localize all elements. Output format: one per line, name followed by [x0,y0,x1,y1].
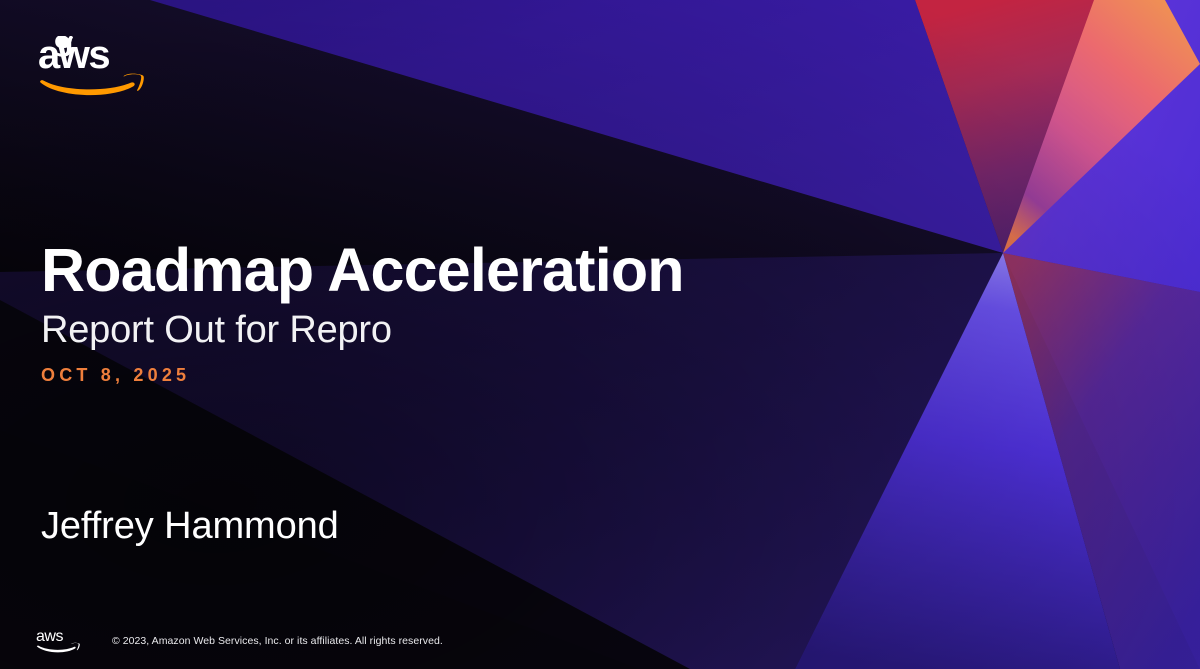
slide-footer: aws © 2023, Amazon Web Services, Inc. or… [36,627,443,655]
presentation-date: OCT 8, 2025 [41,365,801,386]
title-text-block: Roadmap Acceleration Report Out for Repr… [41,238,801,386]
page-subtitle: Report Out for Repro [41,308,801,353]
aws-wordmark-text: aws [38,36,109,77]
title-slide: aws Roadmap Acceleration Report Out for … [0,0,1200,669]
presenter-name: Jeffrey Hammond [41,505,339,548]
aws-logo-footer: aws [36,627,80,655]
page-title: Roadmap Acceleration [41,238,801,304]
aws-logo-icon: aws [38,36,146,104]
aws-smile-icon [40,80,135,95]
copyright-notice: © 2023, Amazon Web Services, Inc. or its… [112,635,443,647]
aws-footer-wordmark-text: aws [36,628,63,645]
aws-footer-smile-icon [37,646,76,653]
aws-logo-footer-icon: aws [36,627,80,655]
aws-logo: aws [38,36,146,104]
